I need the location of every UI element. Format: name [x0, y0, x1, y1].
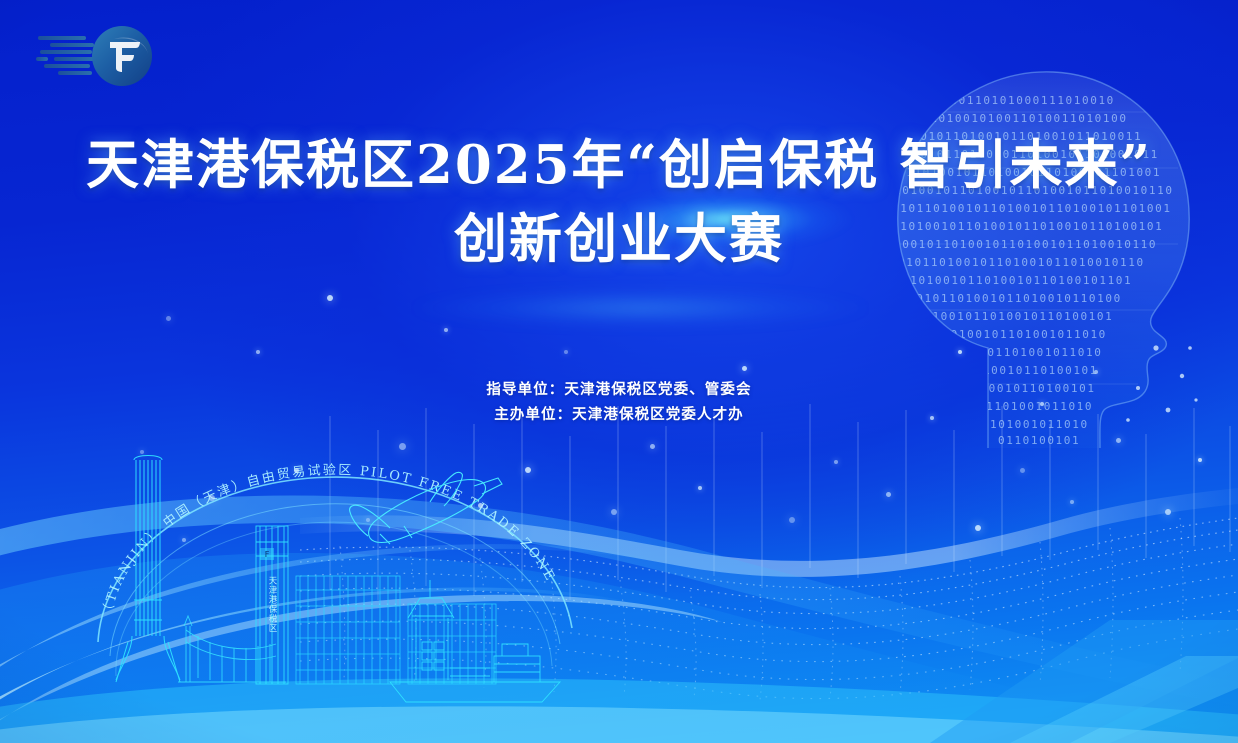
sparkle-dot	[444, 328, 448, 332]
svg-text:011010010110100101: 011010010110100101	[950, 364, 1098, 377]
organiser-block: 指导单位：天津港保税区党委、管委会 主办单位：天津港保税区党委人才办	[0, 378, 1238, 428]
poster-titles: 天津港保税区2025年“创启保税 智引未来” 创新创业大赛	[0, 132, 1238, 274]
svg-text:1101001011010010110100101101: 1101001011010010110100101101	[902, 274, 1132, 287]
brand-logo[interactable]	[36, 24, 161, 88]
poster-canvas: 0100110101000111010010 11010010100110100…	[0, 0, 1238, 743]
sparkle-dot	[327, 295, 333, 301]
svg-text:00101101001011010010110100: 00101101001011010010110100	[908, 292, 1122, 305]
sparkle-dot	[742, 366, 747, 371]
svg-text:1101001010011010011010100: 1101001010011010011010100	[922, 112, 1128, 125]
speed-lines-icon	[36, 36, 94, 75]
page-title-line2: 创新创业大赛	[0, 206, 1238, 274]
page-title-line1: 天津港保税区2025年“创启保税 智引未来”	[0, 132, 1238, 200]
sparkle-dot	[564, 350, 568, 354]
sparkle-dot	[166, 316, 171, 321]
tower-vertical-label: 天津港保税区	[267, 576, 277, 633]
svg-text:0110100101101001011010: 0110100101101001011010	[926, 328, 1107, 341]
host-unit-line: 主办单位：天津港保税区党委人才办	[0, 403, 1238, 428]
sparkle-dot	[256, 350, 260, 354]
svg-text:101001011010010110100101: 101001011010010110100101	[916, 310, 1113, 323]
guidance-unit-line: 指导单位：天津港保税区党委、管委会	[0, 378, 1238, 403]
svg-text:0100110101000111010010: 0100110101000111010010	[934, 94, 1115, 107]
tower-logo-letter: F	[265, 550, 270, 559]
seal-arc-text: （TIANJIN） 中国（天津）自由贸易试验区 PILOT FREE TRADE…	[100, 462, 558, 618]
svg-text:（TIANJIN） 中国（天津）自由贸易试验区 PILOT: （TIANJIN） 中国（天津）自由贸易试验区 PILOT FREE TRADE…	[100, 462, 558, 618]
freetradezone-seal-skyline: （TIANJIN） 中国（天津）自由贸易试验区 PILOT FREE TRADE…	[90, 430, 610, 710]
svg-text:10100101101001011010: 10100101101001011010	[938, 346, 1102, 359]
